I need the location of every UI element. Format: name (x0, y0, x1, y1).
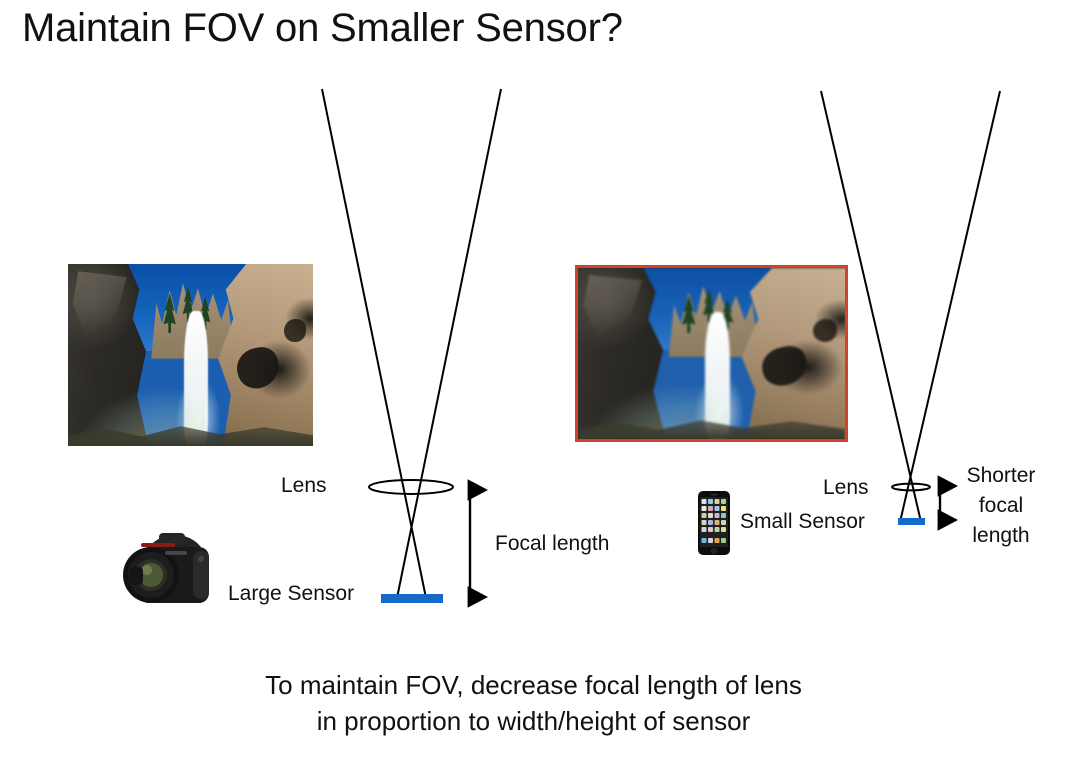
caption-line-2: in proportion to width/height of sensor (0, 704, 1067, 740)
label-shorter-line2: focal (951, 491, 1051, 521)
label-lens-right: Lens (823, 476, 869, 500)
label-small-sensor: Small Sensor (740, 510, 865, 534)
slide-caption: To maintain FOV, decrease focal length o… (0, 668, 1067, 740)
label-focal-length-left: Focal length (495, 532, 609, 556)
sensor-small (898, 518, 925, 525)
ray-bundle-left (322, 89, 501, 598)
waterfall-scene-small (578, 268, 845, 439)
slide-canvas: Maintain FOV on Smaller Sensor? (0, 0, 1067, 759)
caption-line-1: To maintain FOV, decrease focal length o… (0, 668, 1067, 704)
page-title: Maintain FOV on Smaller Sensor? (22, 6, 623, 51)
photo-small-sensor (575, 265, 848, 442)
waterfall-scene-large (68, 264, 313, 446)
label-shorter-line3: length (951, 521, 1051, 551)
label-large-sensor: Large Sensor (228, 582, 354, 606)
photo-large-sensor (68, 264, 313, 446)
lens-large (369, 480, 453, 494)
label-shorter-focal-length: Shorter focal length (951, 461, 1051, 550)
cliff-right-shadow (284, 319, 306, 343)
cliff-right-shadow (813, 319, 837, 341)
dslr-camera-icon (105, 525, 223, 620)
label-lens-left: Lens (281, 474, 327, 498)
sensor-large (381, 594, 443, 603)
lens-small (892, 484, 930, 491)
label-shorter-line1: Shorter (951, 461, 1051, 491)
smartphone-icon (697, 490, 731, 556)
